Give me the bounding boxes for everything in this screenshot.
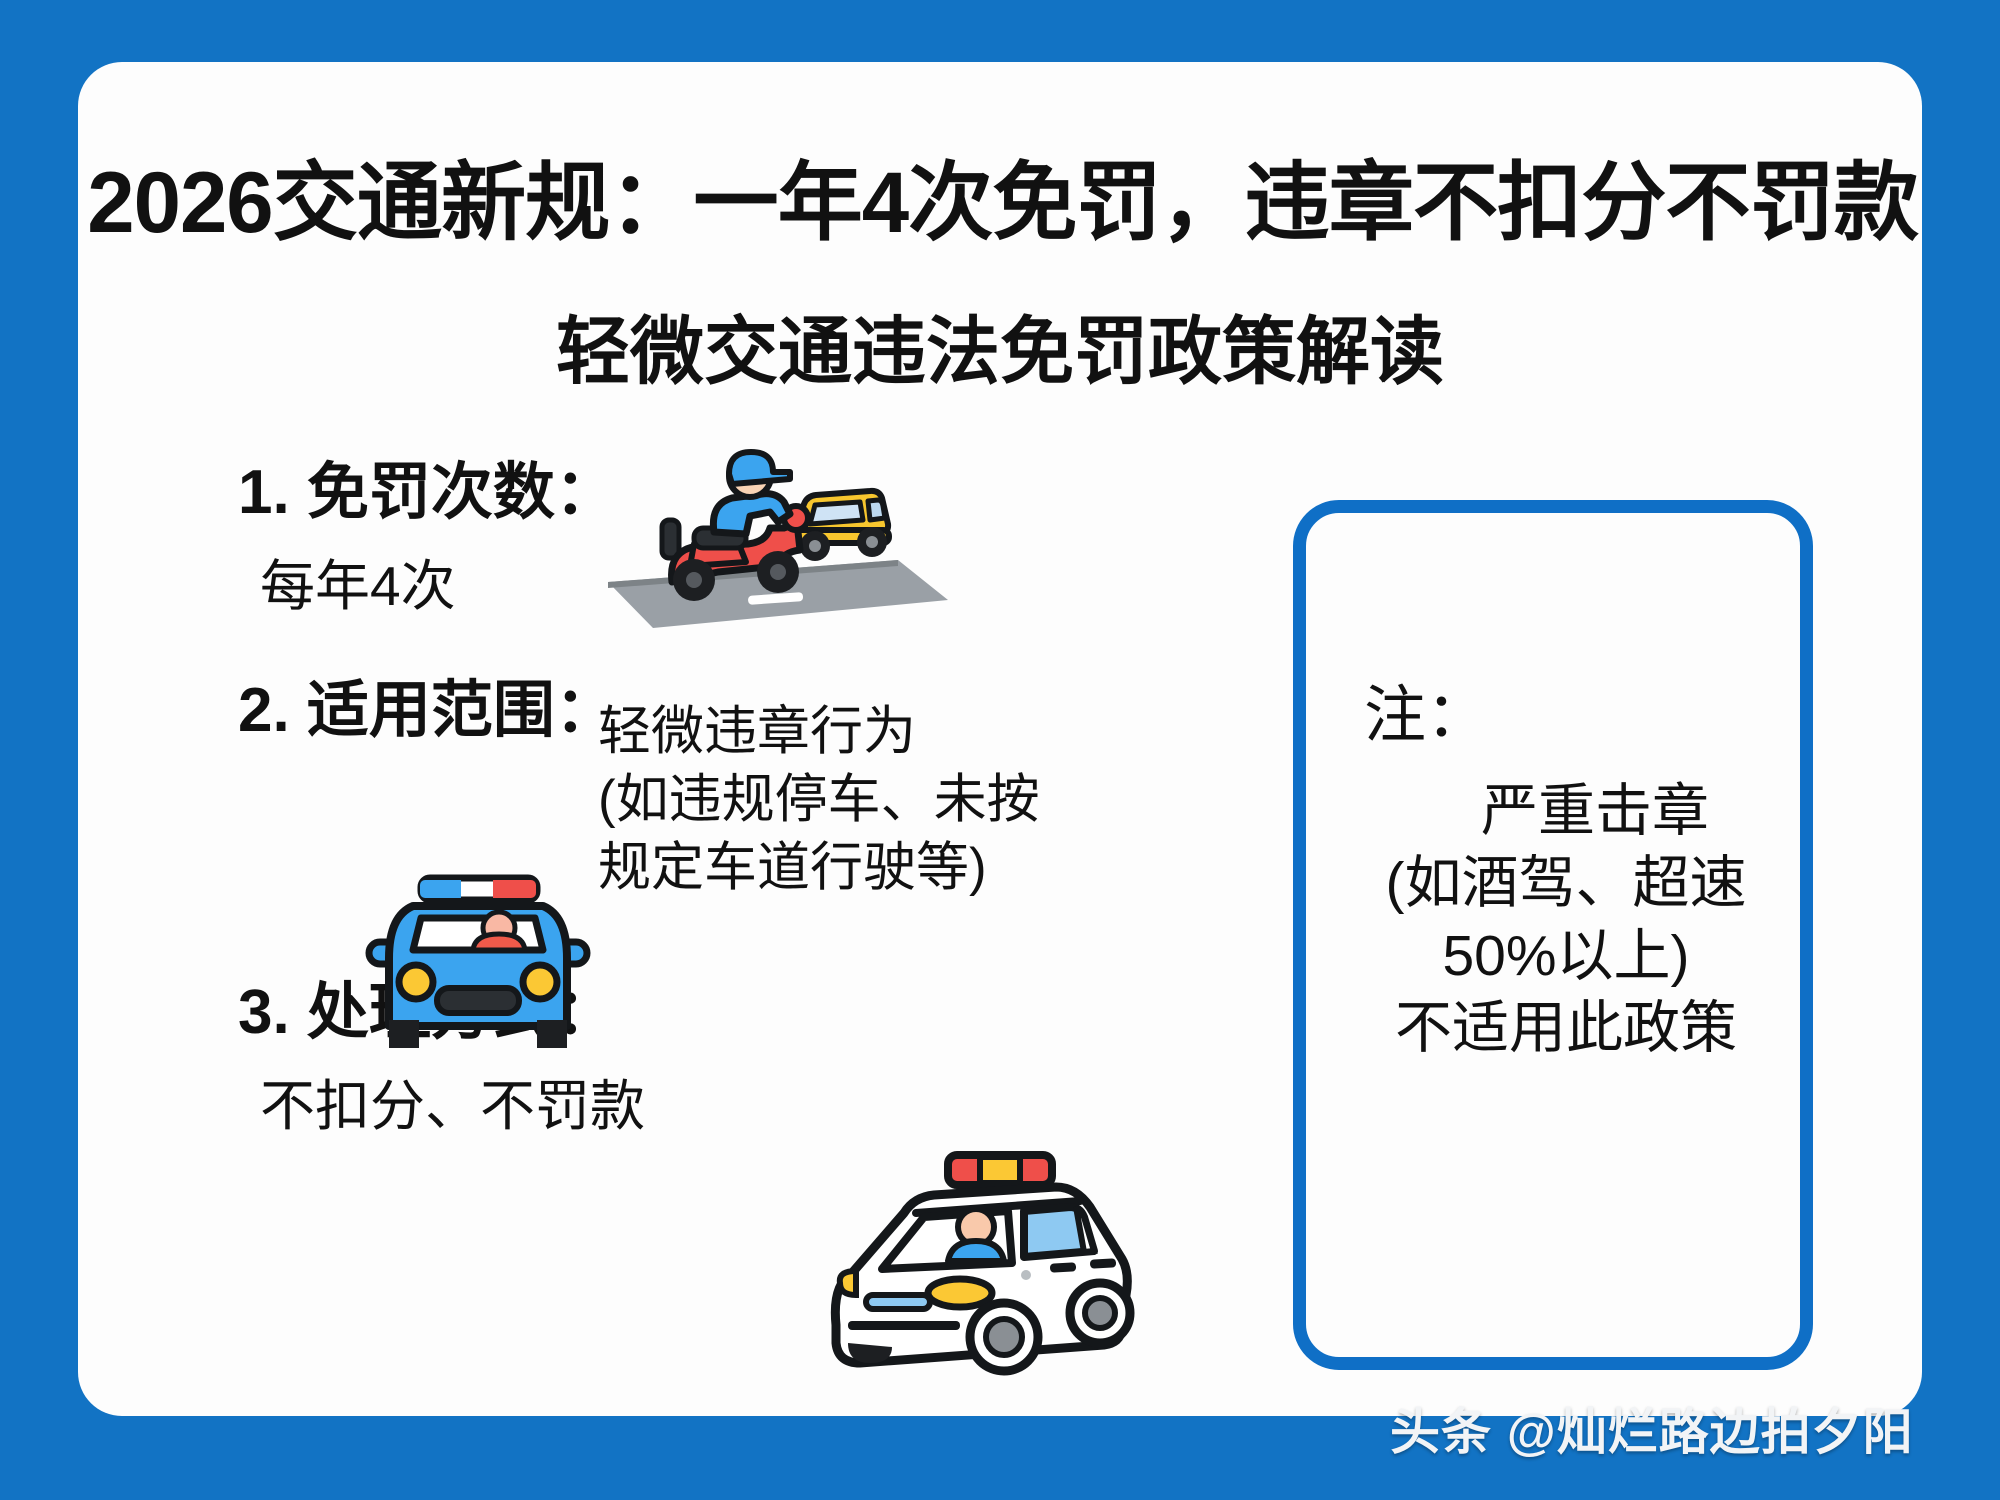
scooter-and-car-icon	[598, 432, 948, 632]
watermark: 头条 @灿烂路边拍夕阳	[1390, 1392, 1990, 1464]
note-body: 严重击章 (如酒驾、超速 50%以上) 不适用此政策	[1306, 775, 1826, 1065]
note-line-2: (如酒驾、超速	[1306, 847, 1826, 919]
item-2-body-line-1: 轻微违章行为	[598, 698, 1040, 766]
note-line-3: 50%以上)	[1306, 920, 1826, 992]
item-2-body-line-3: 规定车道行驶等)	[598, 834, 1040, 902]
blue-police-car-icon	[353, 862, 603, 1052]
white-police-car-icon	[808, 1147, 1148, 1407]
list-item-2: 2. 适用范围：	[238, 680, 617, 742]
item-2-body: 轻微违章行为 (如违规停车、未按 规定车道行驶等)	[598, 698, 1040, 901]
note-label: 注：	[1364, 685, 1488, 747]
infographic-poster: 2026交通新规：一年4次免罚，违章不扣分不罚款 轻微交通违法免罚政策解读 1.…	[0, 0, 2000, 1500]
note-line-1: 严重击章	[1306, 775, 1826, 847]
page-title: 2026交通新规：一年4次免罚，违章不扣分不罚款	[87, 132, 1913, 257]
page-subtitle: 轻微交通违法免罚政策解读	[78, 292, 1922, 399]
note-box: 注： 严重击章 (如酒驾、超速 50%以上) 不适用此政策	[1293, 500, 1813, 1370]
item-3-body: 不扣分、不罚款	[260, 1074, 645, 1139]
item-2-body-line-2: (如违规停车、未按	[598, 766, 1040, 834]
item-1-heading: 1. 免罚次数：	[238, 462, 617, 524]
item-1-body: 每年4次	[260, 554, 617, 619]
white-card: 2026交通新规：一年4次免罚，违章不扣分不罚款 轻微交通违法免罚政策解读 1.…	[78, 62, 1922, 1416]
note-line-4: 不适用此政策	[1306, 992, 1826, 1064]
item-2-heading: 2. 适用范围：	[238, 680, 617, 742]
list-item-1: 1. 免罚次数： 每年4次	[238, 462, 617, 619]
